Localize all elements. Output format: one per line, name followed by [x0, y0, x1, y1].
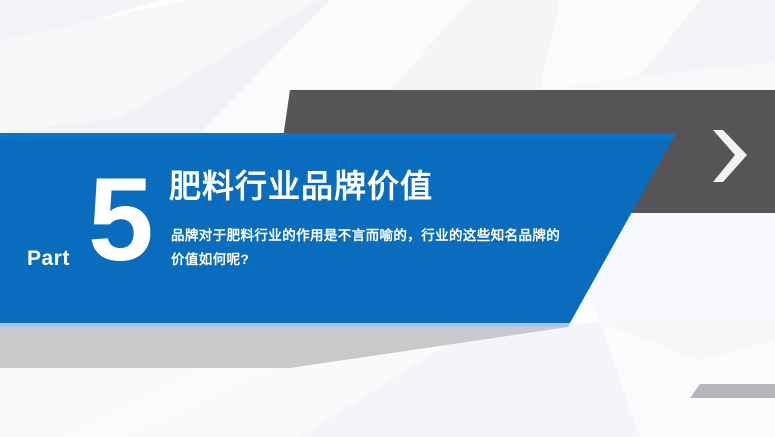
page-title: 肥料行业品牌价值	[169, 169, 433, 204]
part-label: Part	[27, 248, 70, 269]
section-number: 5	[88, 161, 152, 279]
slide-canvas: Part 5 肥料行业品牌价值 品牌对于肥料行业的作用是不言而喻的，行业的这些知…	[0, 0, 775, 437]
chevron-right-icon	[707, 128, 751, 184]
section-subtitle: 品牌对于肥料行业的作用是不言而喻的，行业的这些知名品牌的价值如何呢?	[171, 224, 571, 271]
